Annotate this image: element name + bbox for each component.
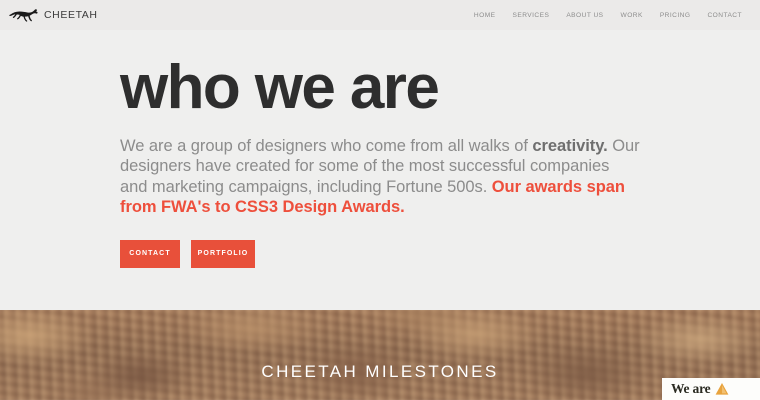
hero-description: We are a group of designers who come fro… — [120, 119, 640, 218]
portfolio-button[interactable]: PORTFOLIO — [191, 240, 255, 268]
nav-item-home[interactable]: HOME — [474, 12, 496, 19]
page-root: CHEETAH HOME SERVICES ABOUT US WORK PRIC… — [0, 0, 760, 400]
hero-description-emphasis-creativity: creativity. — [532, 137, 607, 155]
nav-item-about-us[interactable]: ABOUT US — [566, 12, 603, 19]
milestones-background-texture — [0, 310, 760, 400]
nav-item-pricing[interactable]: PRICING — [660, 12, 691, 19]
nav-item-contact[interactable]: CONTACT — [707, 12, 742, 19]
milestone-card-title: We are — [671, 381, 710, 397]
brand-name: CHEETAH — [44, 9, 98, 21]
hero-description-part1: We are a group of designers who come fro… — [120, 137, 532, 155]
primary-navigation: HOME SERVICES ABOUT US WORK PRICING CONT… — [474, 12, 742, 19]
nav-item-work[interactable]: WORK — [621, 12, 643, 19]
page-title: who we are — [120, 30, 760, 119]
milestones-heading: CHEETAH MILESTONES — [0, 362, 760, 382]
site-header: CHEETAH HOME SERVICES ABOUT US WORK PRIC… — [0, 0, 760, 30]
hero-cta-group: CONTACT PORTFOLIO — [120, 218, 760, 268]
nav-item-services[interactable]: SERVICES — [513, 12, 550, 19]
orange-triangle-icon — [714, 381, 730, 397]
milestone-card[interactable]: We are — [662, 378, 760, 400]
brand-logo[interactable]: CHEETAH — [9, 7, 98, 23]
milestones-section: CHEETAH MILESTONES — [0, 310, 760, 400]
running-cheetah-icon — [9, 7, 39, 23]
contact-button[interactable]: CONTACT — [120, 240, 180, 268]
hero-section: who we are We are a group of designers w… — [0, 30, 760, 310]
